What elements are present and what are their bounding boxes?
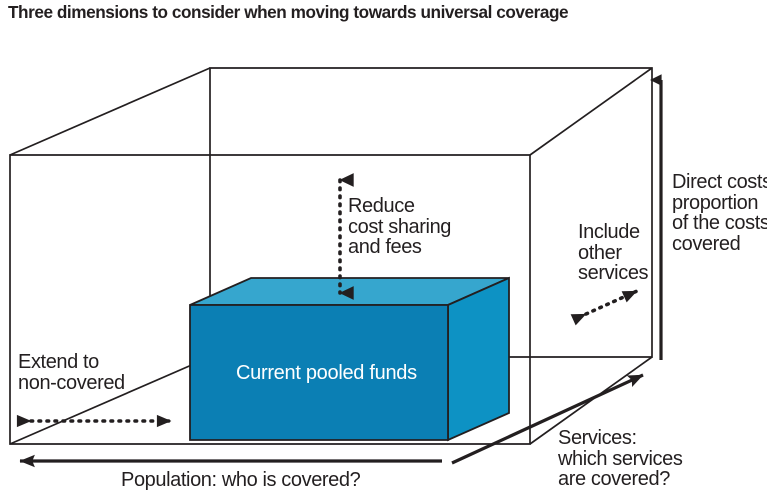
cube-right-face [448, 278, 509, 440]
services-axis-label: Services: which services are covered? [558, 428, 682, 490]
include-other-services-arrow [586, 291, 637, 314]
direct-costs-axis-label: Direct costs: proportion of the costs co… [672, 172, 767, 254]
extend-to-non-covered-label: Extend to non-covered [18, 352, 125, 393]
wireframe-edge-top-right [530, 68, 652, 155]
include-other-services-label: Include other services [578, 222, 648, 284]
diagram-canvas: Three dimensions to consider when moving… [0, 0, 767, 500]
wireframe-edge-top-left [10, 68, 210, 155]
current-pooled-funds-label: Current pooled funds [236, 362, 417, 385]
reduce-cost-sharing-label: Reduce cost sharing and fees [348, 196, 451, 258]
population-axis-label: Population: who is covered? [121, 470, 360, 491]
pooled-funds-cube [190, 278, 509, 440]
